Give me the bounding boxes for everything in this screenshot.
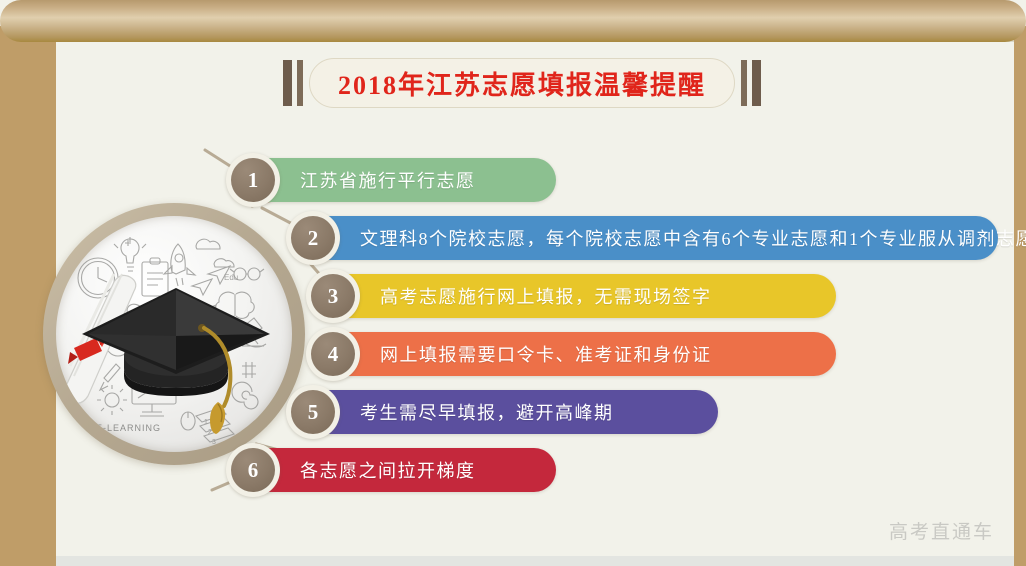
badge-core: 6: [231, 448, 275, 492]
title-capsule: 2018年江苏志愿填报温馨提醒: [309, 58, 735, 108]
item-label: 江苏省施行平行志愿: [300, 167, 476, 193]
title-decor-bar-left-outer: [283, 60, 292, 106]
slide-canvas: 2018年江苏志愿填报温馨提醒: [0, 0, 1026, 566]
list-item[interactable]: 文理科8个院校志愿，每个院校志愿中含有6个专业志愿和1个专业服从调剂志愿 2: [298, 216, 998, 260]
badge-core: 5: [291, 390, 335, 434]
badge-number: 6: [248, 458, 259, 483]
list-item[interactable]: 网上填报需要口令卡、准考证和身份证 4: [318, 332, 836, 376]
item-number-badge[interactable]: 5: [286, 385, 340, 439]
title-banner: 2018年江苏志愿填报温馨提醒: [283, 58, 761, 108]
svg-text:2: 2: [208, 429, 212, 436]
list-item[interactable]: 各志愿之间拉开梯度 6: [238, 448, 556, 492]
item-number-badge[interactable]: 4: [306, 327, 360, 381]
item-pill[interactable]: 考生需尽早填报，避开高峰期: [298, 390, 718, 434]
frame-bottom-strip: [56, 556, 1014, 566]
badge-core: 1: [231, 158, 275, 202]
badge-number: 4: [328, 342, 339, 367]
education-photo-ring: Edu E-LEARNING 1 2 3: [43, 203, 305, 465]
title-decor-bar-left-inner: [297, 60, 303, 106]
badge-number: 2: [308, 226, 319, 251]
item-number-badge[interactable]: 1: [226, 153, 280, 207]
item-pill[interactable]: 江苏省施行平行志愿: [238, 158, 556, 202]
badge-core: 2: [291, 216, 335, 260]
badge-number: 1: [248, 168, 259, 193]
item-label: 各志愿之间拉开梯度: [300, 457, 476, 483]
item-pill[interactable]: 文理科8个院校志愿，每个院校志愿中含有6个专业志愿和1个专业服从调剂志愿: [298, 216, 998, 260]
item-number-badge[interactable]: 6: [226, 443, 280, 497]
item-number-badge[interactable]: 3: [306, 269, 360, 323]
svg-text:E-LEARNING: E-LEARNING: [96, 423, 161, 433]
watermark: 高考直通车: [889, 517, 994, 544]
frame-right-strip: [1014, 26, 1026, 566]
item-label: 文理科8个院校志愿，每个院校志愿中含有6个专业志愿和1个专业服从调剂志愿: [360, 225, 1026, 251]
badge-number: 3: [328, 284, 339, 309]
list-item[interactable]: 江苏省施行平行志愿 1: [238, 158, 556, 202]
item-pill[interactable]: 高考志愿施行网上填报，无需现场签字: [318, 274, 836, 318]
list-item[interactable]: 考生需尽早填报，避开高峰期 5: [298, 390, 718, 434]
page-title: 2018年江苏志愿填报温馨提醒: [338, 65, 706, 102]
item-pill[interactable]: 网上填报需要口令卡、准考证和身份证: [318, 332, 836, 376]
list-item[interactable]: 高考志愿施行网上填报，无需现场签字 3: [318, 274, 836, 318]
title-decor-bar-right-inner: [741, 60, 747, 106]
svg-text:Edu: Edu: [224, 273, 238, 282]
item-label: 网上填报需要口令卡、准考证和身份证: [380, 341, 712, 367]
item-pill[interactable]: 各志愿之间拉开梯度: [238, 448, 556, 492]
badge-core: 4: [311, 332, 355, 376]
item-number-badge[interactable]: 2: [286, 211, 340, 265]
svg-text:3: 3: [212, 439, 216, 446]
frame-top-bar: [0, 0, 1026, 42]
education-photo: Edu E-LEARNING 1 2 3: [56, 216, 292, 452]
svg-text:1: 1: [204, 419, 208, 426]
item-label: 考生需尽早填报，避开高峰期: [360, 399, 614, 425]
item-label: 高考志愿施行网上填报，无需现场签字: [380, 283, 712, 309]
badge-core: 3: [311, 274, 355, 318]
title-decor-bar-right-outer: [752, 60, 761, 106]
badge-number: 5: [308, 400, 319, 425]
